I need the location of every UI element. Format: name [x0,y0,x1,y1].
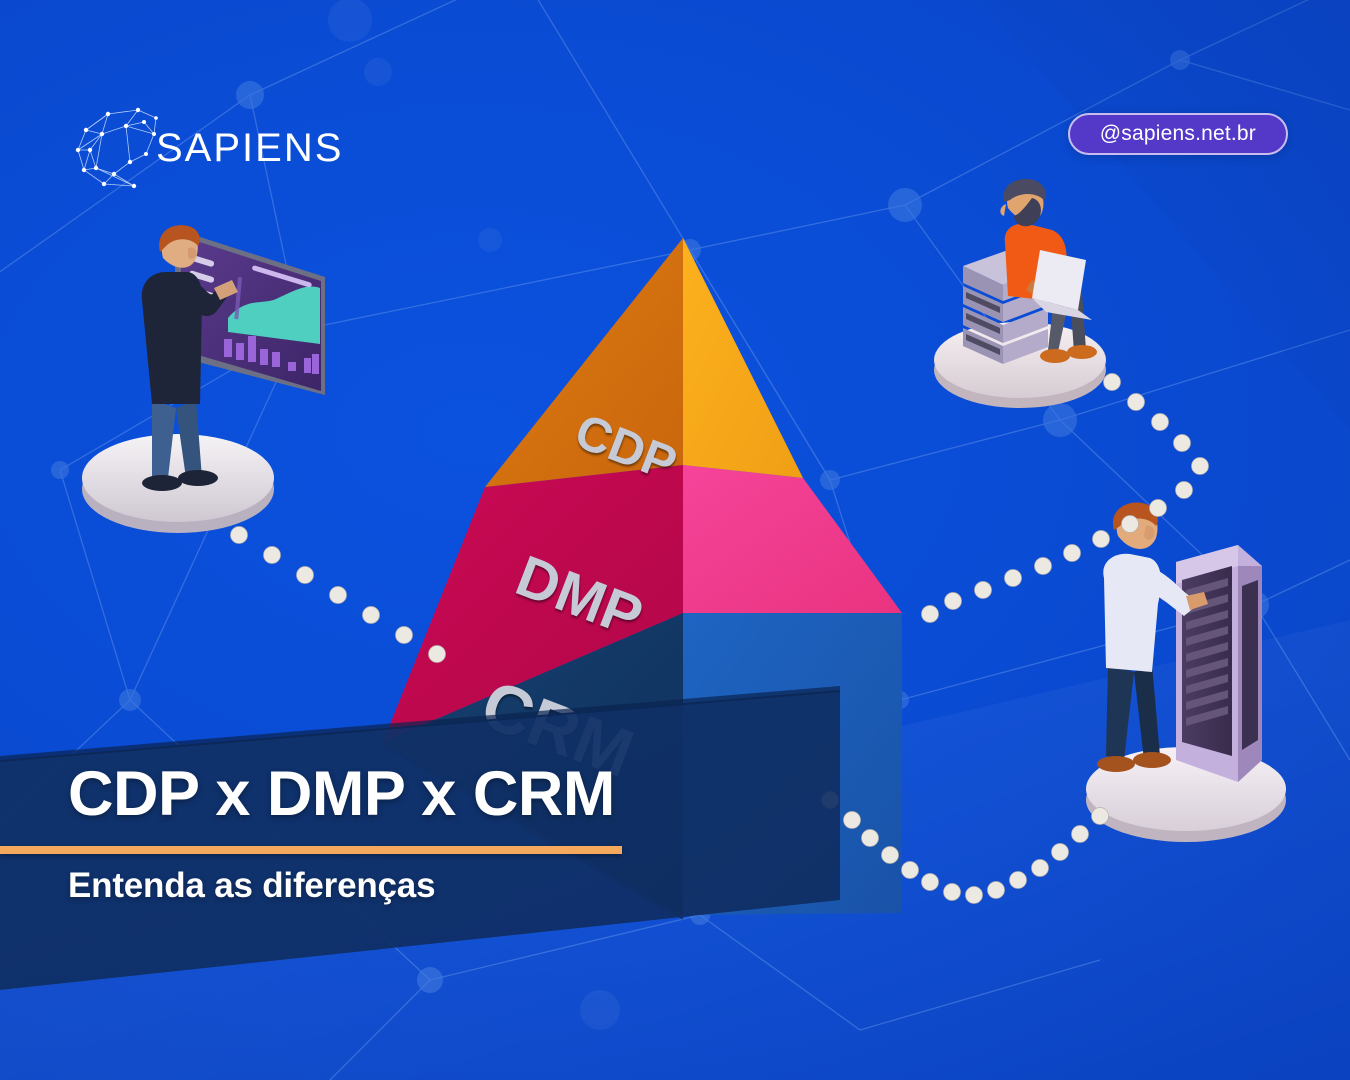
page-subtitle: Entenda as diferenças [68,866,435,906]
title-block: CDP x DMP x CRM Entenda as diferenças [0,738,700,938]
title-divider [0,846,622,854]
poster-canvas: SAPIENS @sapiens.net.br [0,0,1350,1080]
page-title: CDP x DMP x CRM [68,758,615,830]
